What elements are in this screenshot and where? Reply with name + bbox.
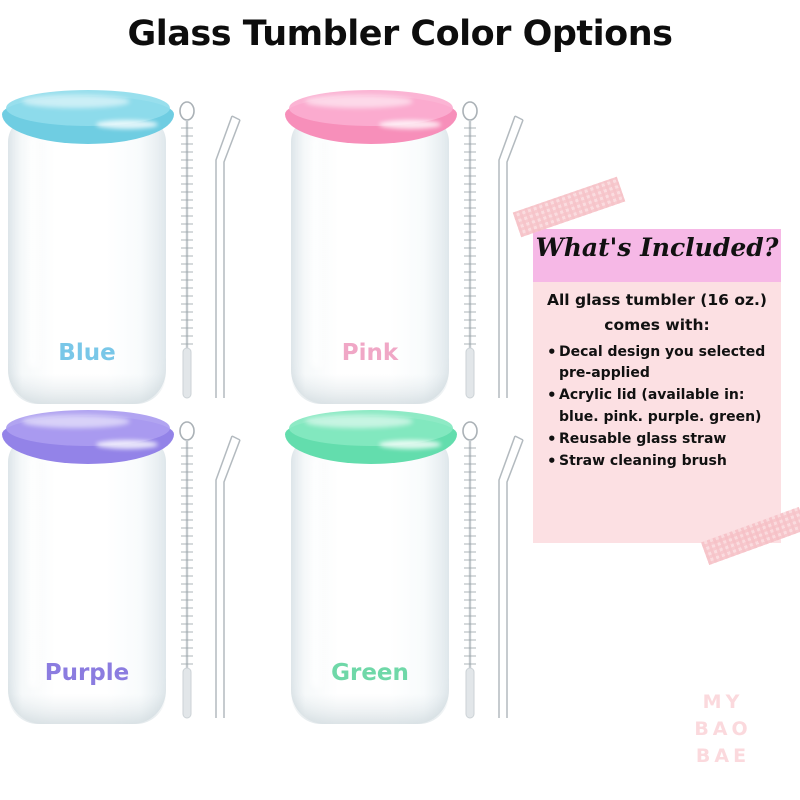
card-intro-line-2: comes with: [543,315,771,336]
whats-included-card: What's Included? All glass tumbler (16 o… [533,229,781,543]
acrylic-lid [283,88,459,150]
glass-highlight [311,134,327,369]
tumbler-option-purple[interactable]: Purple [0,408,260,728]
list-item: Decal design you selected pre-applied [559,342,769,385]
lid-highlight-secondary [379,120,441,129]
included-items-list: Decal design you selected pre-applied Ac… [543,342,771,473]
brush-and-straw-svg [455,98,533,408]
lid-highlight-secondary [96,120,158,129]
lid-highlight [305,95,413,108]
tumbler-color-grid: Blue [0,88,520,728]
lid-highlight [22,415,130,428]
list-item: Straw cleaning brush [559,451,769,472]
list-item: Acrylic lid (available in: blue. pink. p… [559,385,769,428]
glass-straw [216,116,240,398]
lid-highlight [22,95,130,108]
card-header-title: What's Included? [533,233,781,262]
brand-logo-line-2: BAO [668,716,778,743]
tumbler-color-label: Blue [8,340,166,366]
tumbler-option-blue[interactable]: Blue [0,88,260,408]
lid-highlight [305,415,413,428]
acrylic-lid [283,408,459,470]
brand-logo-line-3: BAE [668,743,778,770]
straw-cleaning-brush [463,422,477,718]
lid-highlight-secondary [96,440,158,449]
tumbler-option-green[interactable]: Green [283,408,543,728]
accessories-green [455,418,533,728]
brush-and-straw-svg [172,418,250,728]
page-title: Glass Tumbler Color Options [0,14,800,54]
card-header: What's Included? [533,229,781,282]
straw-cleaning-brush [180,102,194,398]
card-intro-line-1: All glass tumbler (16 oz.) [543,290,771,311]
glass-straw [216,436,240,718]
tumbler-option-pink[interactable]: Pink [283,88,543,408]
straw-cleaning-brush [463,102,477,398]
brush-and-straw-svg [455,418,533,728]
glass-highlight [311,454,327,689]
tumbler-color-label: Pink [291,340,449,366]
card-body: All glass tumbler (16 oz.) comes with: D… [533,282,781,472]
lid-highlight-secondary [379,440,441,449]
glass-highlight [28,454,44,689]
acrylic-lid [0,88,176,150]
list-item: Reusable glass straw [559,429,769,450]
acrylic-lid [0,408,176,470]
glass-straw [499,116,523,398]
brand-logo: MY BAO BAE [668,689,778,770]
tumbler-color-label: Purple [8,660,166,686]
straw-cleaning-brush [180,422,194,718]
tumbler-color-label: Green [291,660,449,686]
glass-highlight [28,134,44,369]
accessories-blue [172,98,250,408]
brand-logo-line-1: MY [668,689,778,716]
brush-and-straw-svg [172,98,250,408]
accessories-pink [455,98,533,408]
accessories-purple [172,418,250,728]
glass-straw [499,436,523,718]
